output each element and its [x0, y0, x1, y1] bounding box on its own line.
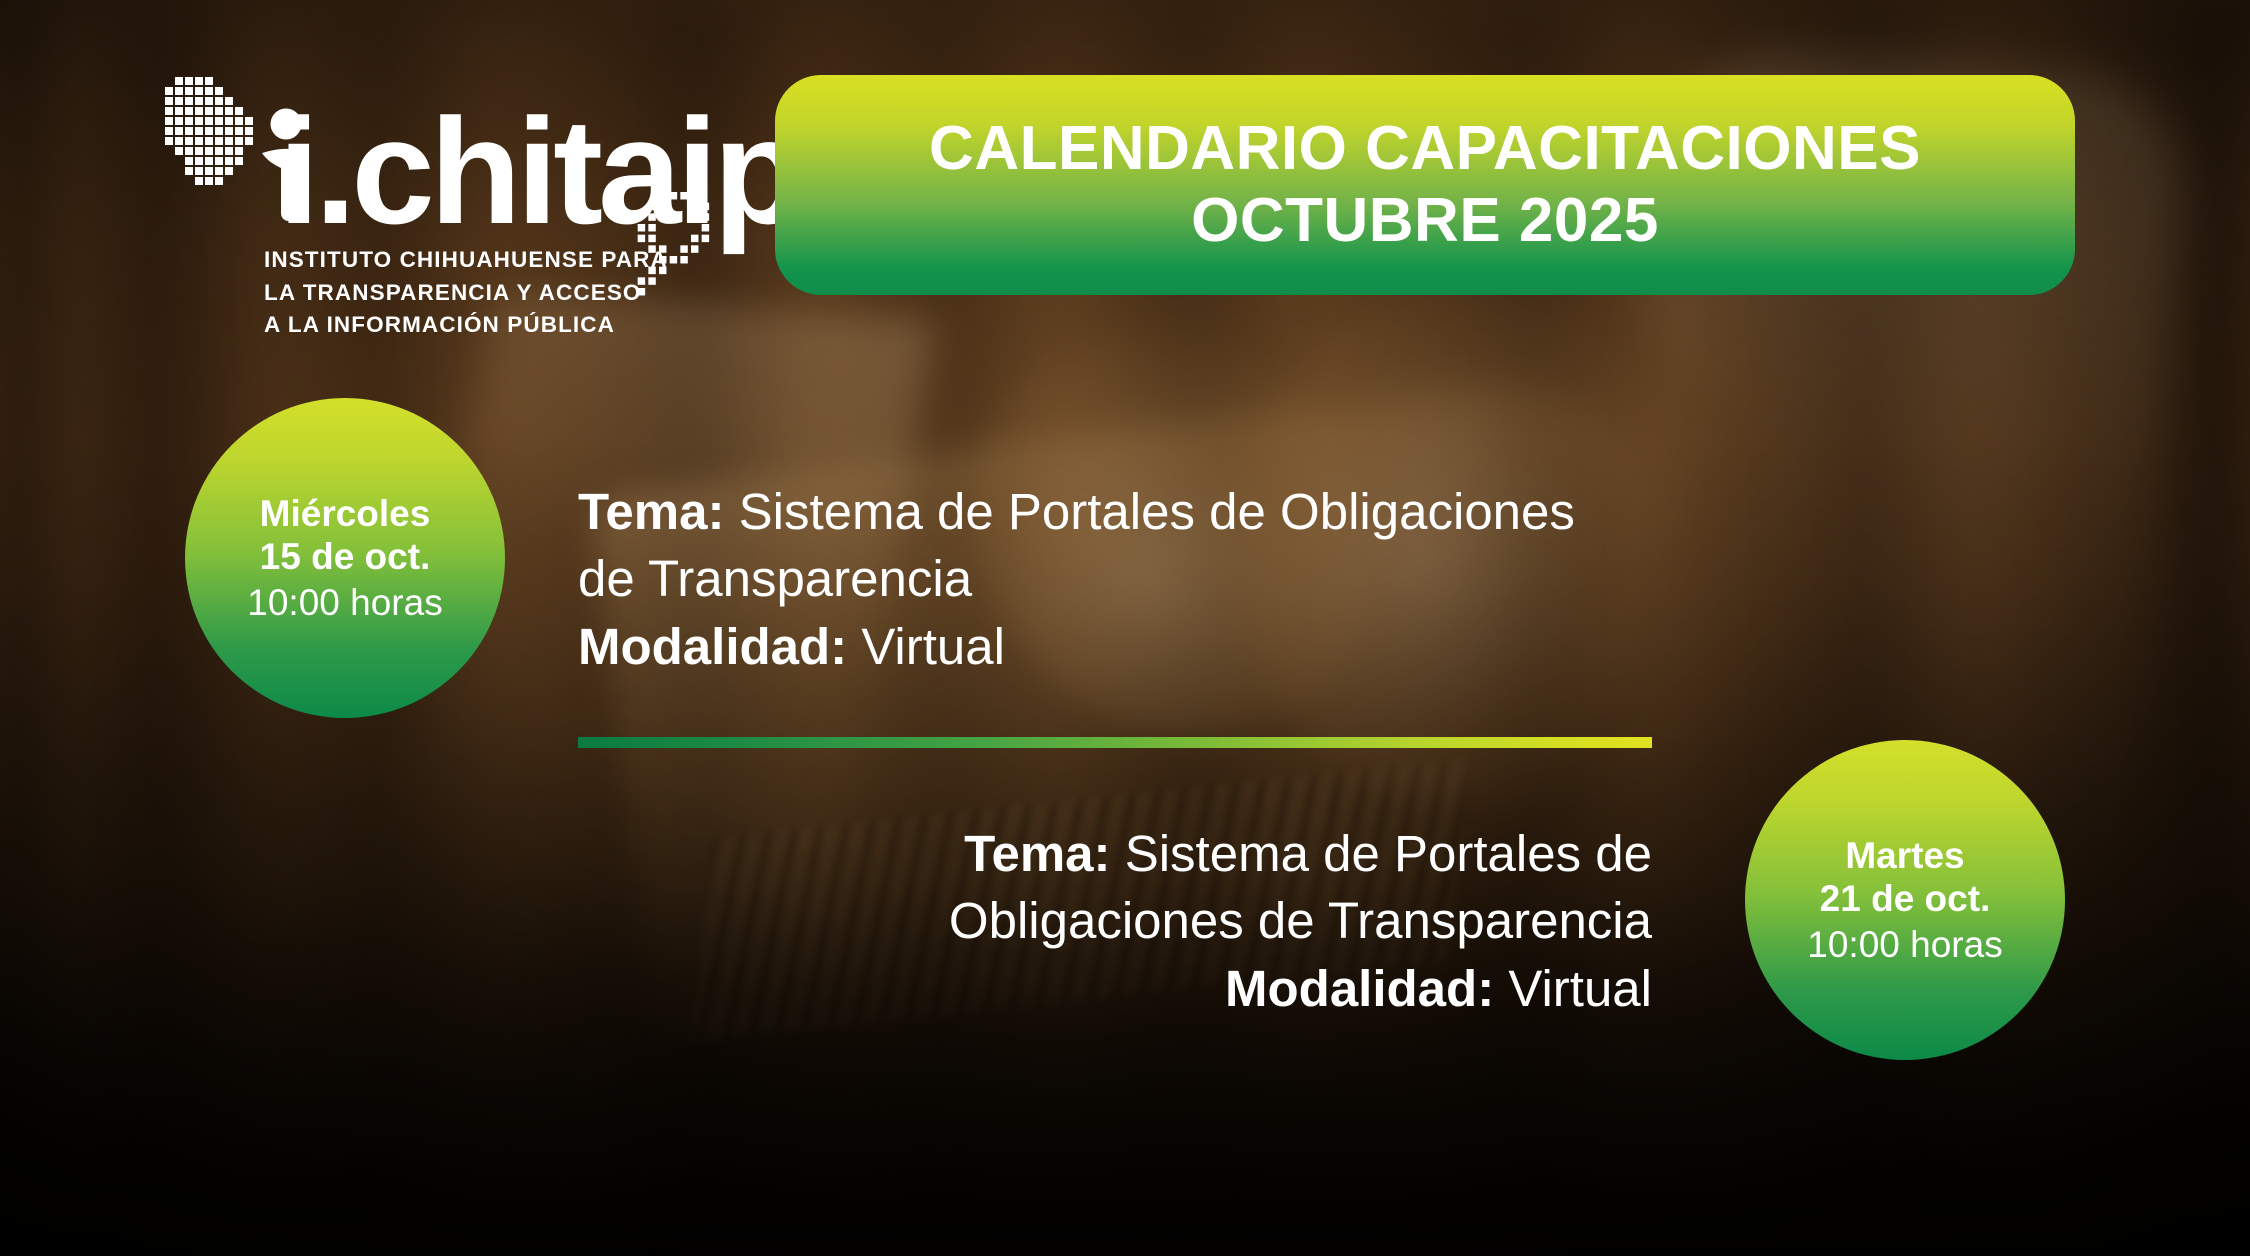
session-2-tema: Tema: Sistema de Portales de Obligacione… — [700, 820, 1652, 955]
session-details-1: Tema: Sistema de Portales de Obligacione… — [578, 478, 1578, 680]
date-badge-session-1: Miércoles 15 de oct. 10:00 horas — [185, 398, 505, 718]
session-details-2: Tema: Sistema de Portales de Obligacione… — [700, 820, 1652, 1022]
logo-tagline-line-1: INSTITUTO CHIHUAHUENSE PARA — [264, 244, 668, 277]
title-line-1: CALENDARIO CAPACITACIONES — [929, 113, 1921, 185]
modalidad-value: Virtual — [861, 618, 1005, 675]
tema-value: Sistema de Portales de Obligaciones de T… — [578, 483, 1575, 607]
tema-label: Tema: — [578, 483, 724, 540]
session-1-tema: Tema: Sistema de Portales de Obligacione… — [578, 478, 1578, 613]
badge-day: Martes — [1845, 834, 1964, 878]
page-title: CALENDARIO CAPACITACIONES OCTUBRE 2025 — [775, 75, 2075, 295]
badge-time: 10:00 horas — [1807, 923, 2002, 967]
badge-date: 21 de oct. — [1820, 877, 1991, 921]
title-line-2: OCTUBRE 2025 — [1191, 185, 1659, 257]
session-1-modalidad: Modalidad: Virtual — [578, 613, 1578, 680]
modalidad-label: Modalidad: — [1225, 960, 1494, 1017]
logo-tagline: INSTITUTO CHIHUAHUENSE PARA LA TRANSPARE… — [264, 244, 668, 342]
badge-date: 15 de oct. — [260, 535, 431, 579]
modalidad-label: Modalidad: — [578, 618, 847, 675]
date-badge-session-2: Martes 21 de oct. 10:00 horas — [1745, 740, 2065, 1060]
session-2-modalidad: Modalidad: Virtual — [700, 955, 1652, 1022]
ichitaip-logo: i.chitaip INSTITUTO CHIHUAHUENSE PARA LA… — [160, 72, 720, 292]
section-divider — [578, 737, 1652, 748]
logo-tagline-line-3: A LA INFORMACIÓN PÚBLICA — [264, 309, 668, 342]
poster-canvas: i.chitaip INSTITUTO CHIHUAHUENSE PARA LA… — [0, 0, 2250, 1256]
logo-tagline-line-2: LA TRANSPARENCIA Y ACCESO — [264, 277, 668, 310]
modalidad-value: Virtual — [1508, 960, 1652, 1017]
badge-day: Miércoles — [260, 492, 431, 536]
tema-label: Tema: — [964, 825, 1110, 882]
logo-wordmark: i.chitaip — [278, 96, 800, 246]
badge-time: 10:00 horas — [247, 581, 442, 625]
